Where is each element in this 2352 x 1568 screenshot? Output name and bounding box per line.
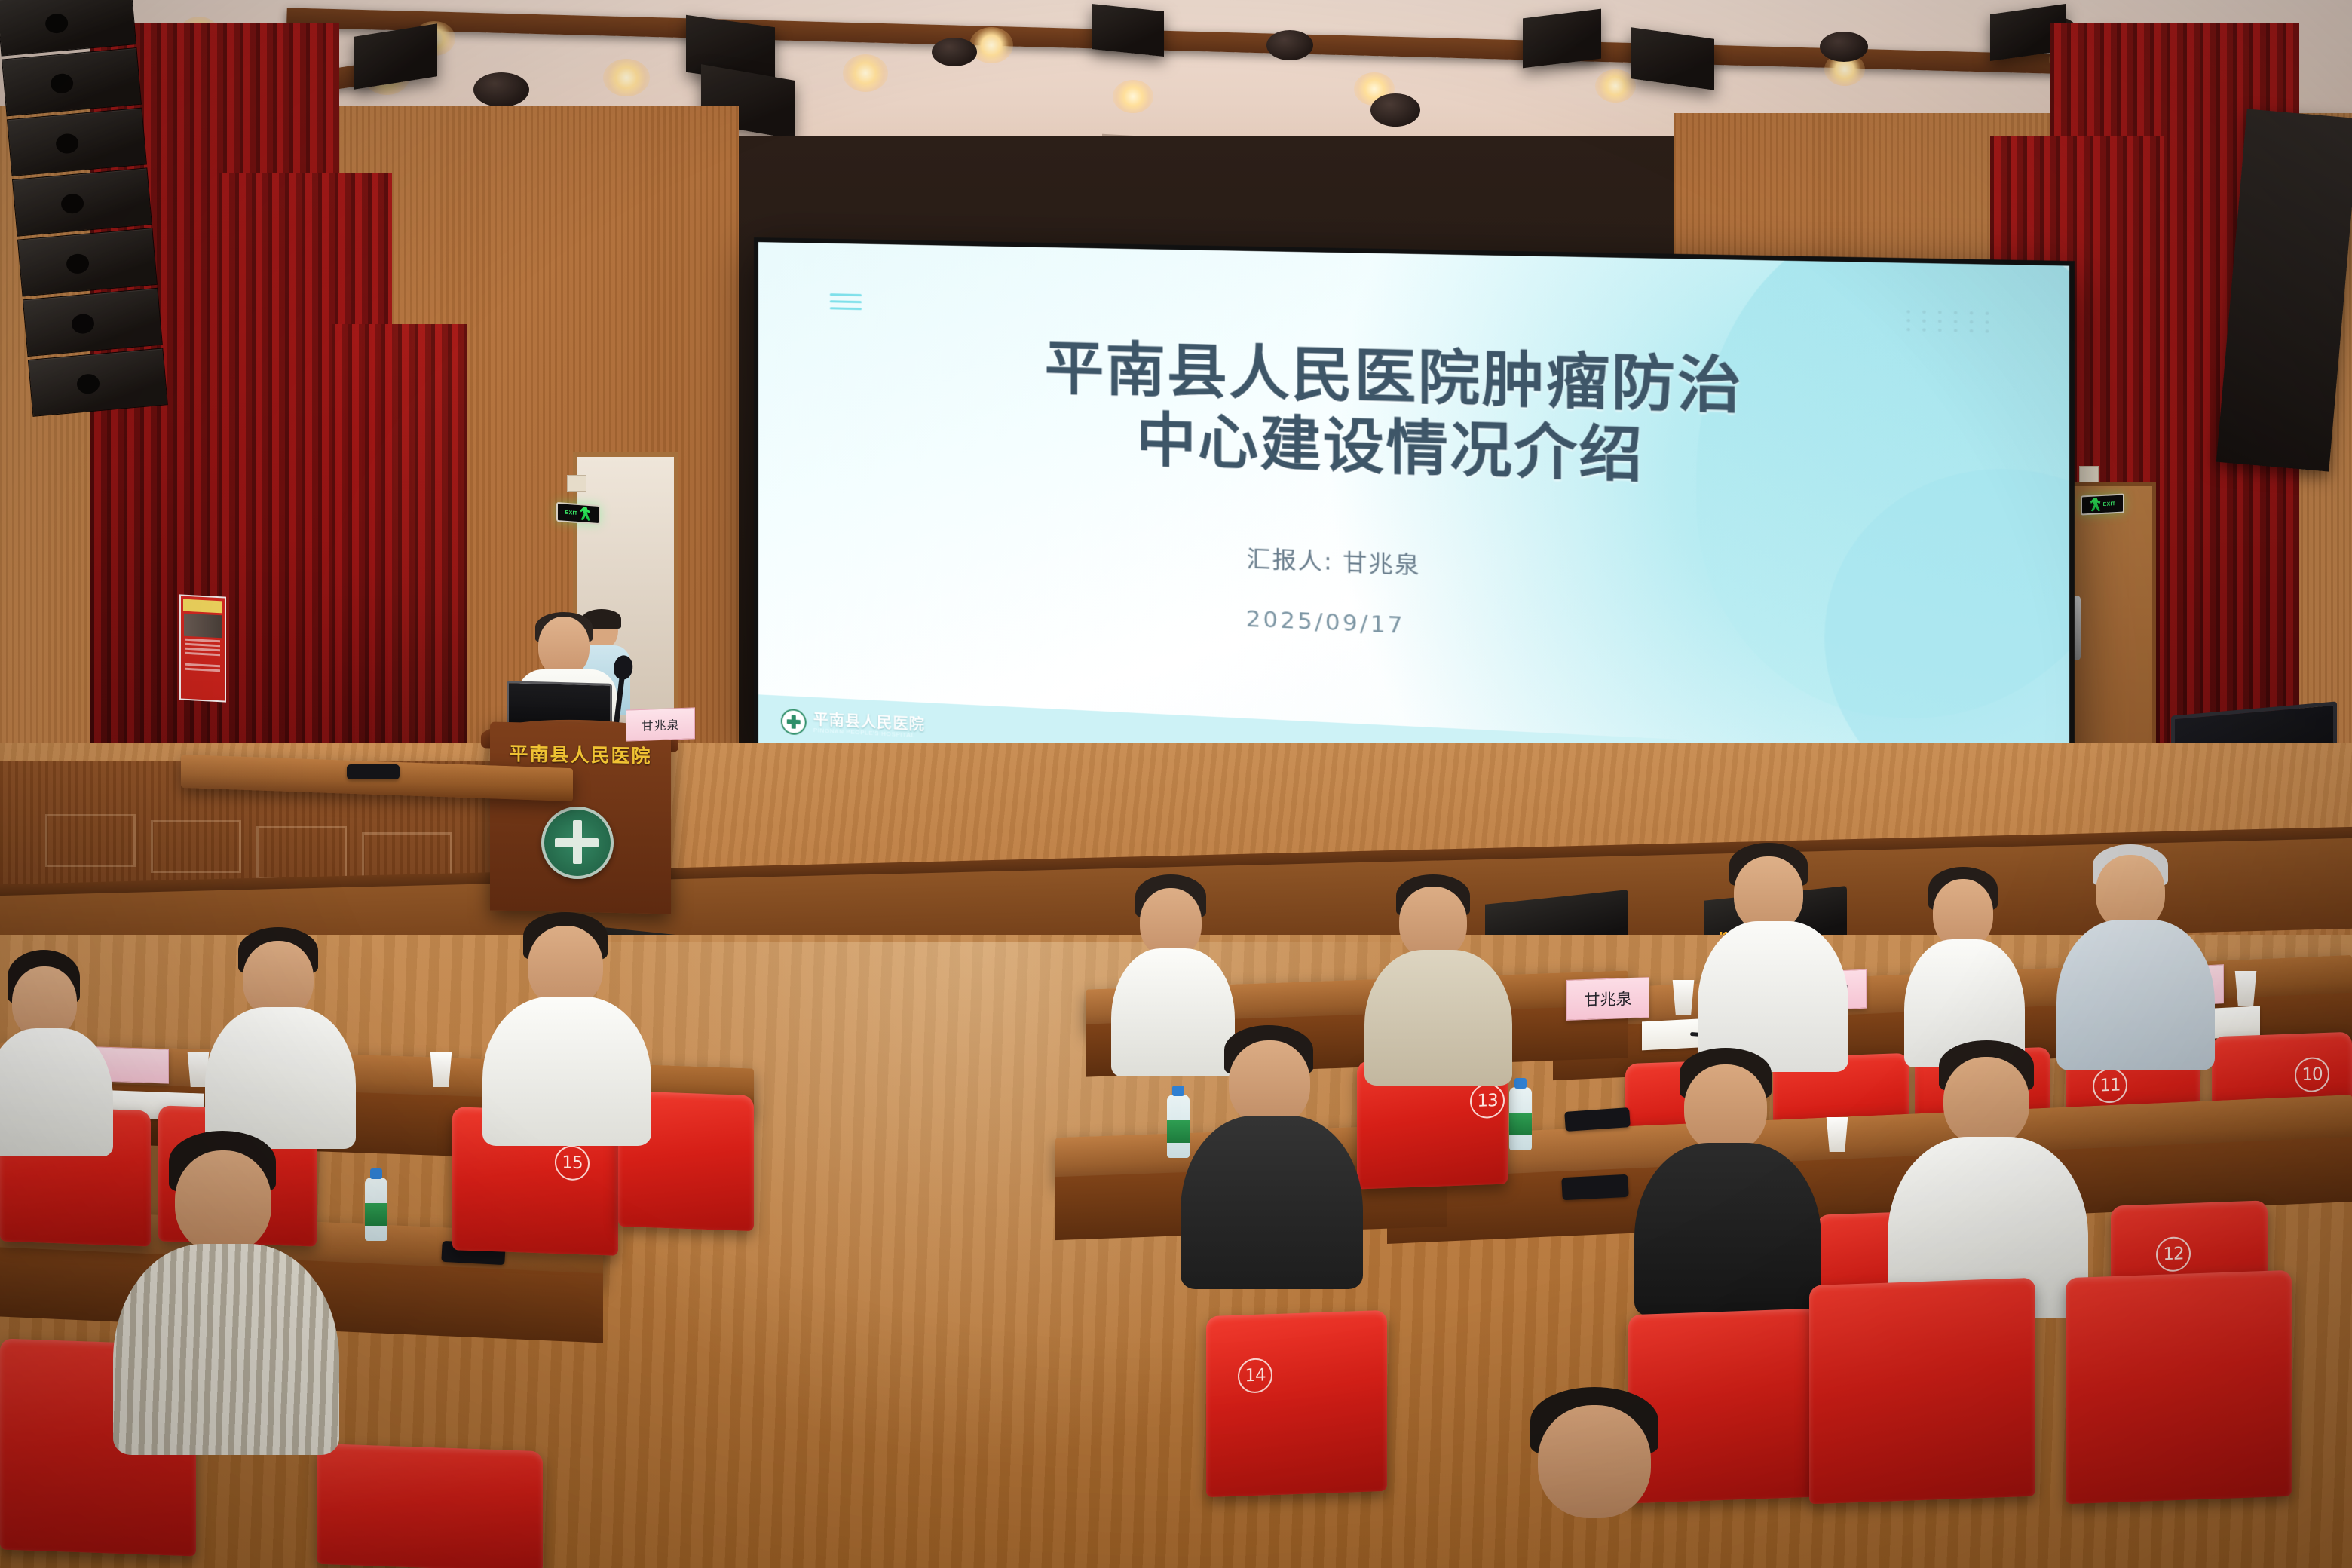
stage-side-object — [347, 764, 400, 779]
fire-safety-poster — [179, 594, 226, 702]
exit-sign-left: EXIT — [556, 502, 600, 525]
ceiling-acoustic-pod — [473, 72, 529, 107]
audience-person — [490, 912, 641, 1138]
audience-person — [1907, 867, 2020, 1063]
hospital-emblem-icon — [541, 807, 614, 879]
ceiling-speaker-panel — [1092, 4, 1164, 57]
ceiling-acoustic-pod — [1820, 32, 1868, 62]
audience-chair[interactable]: 14 — [1206, 1310, 1387, 1497]
audience-person — [1643, 1048, 1809, 1304]
seat-number: 15 — [555, 1145, 590, 1181]
wall-plate — [567, 475, 586, 492]
ceiling-downlight — [969, 27, 1013, 63]
water-bottle — [1167, 1095, 1190, 1158]
audience-chair[interactable] — [2066, 1270, 2292, 1504]
ceiling-speaker-panel — [1523, 9, 1601, 69]
seat-number: 11 — [2093, 1067, 2127, 1104]
ceiling-acoustic-pod — [1266, 30, 1313, 60]
running-person-icon — [2090, 498, 2102, 512]
exit-label: EXIT — [565, 510, 578, 516]
audience-person — [211, 927, 347, 1138]
ceiling-downlight — [1113, 80, 1153, 113]
ceiling-acoustic-pod — [1370, 93, 1420, 127]
hamburger-decor-icon — [830, 289, 862, 314]
projection-screen: 平南县人民医院肿瘤防治 中心建设情况介绍 汇报人: 甘兆泉 2025/09/17… — [754, 237, 2075, 819]
exit-label: EXIT — [2103, 501, 2116, 507]
audience-person — [1372, 874, 1500, 1078]
water-bottle — [1509, 1087, 1532, 1150]
audience-person — [0, 950, 113, 1138]
water-bottle — [365, 1178, 387, 1241]
audience-person — [128, 1131, 324, 1447]
seat-number: 12 — [2156, 1236, 2191, 1272]
seat-number: 10 — [2295, 1057, 2329, 1093]
audience-person — [2066, 844, 2201, 1070]
ceiling-downlight — [603, 59, 650, 96]
exit-sign-right: EXIT — [2081, 493, 2124, 515]
slide-title: 平南县人民医院肿瘤防治 中心建设情况介绍 — [758, 326, 2069, 506]
ceiling-acoustic-pod — [932, 38, 977, 66]
audience-person — [1478, 1387, 1704, 1568]
audience-person — [1191, 1025, 1349, 1282]
presentation-slide: 平南县人民医院肿瘤防治 中心建设情况介绍 汇报人: 甘兆泉 2025/09/17… — [758, 242, 2069, 814]
audience-person — [1704, 843, 1836, 1069]
conference-hall-photo: EXIT EXIT 平南县人民医院肿瘤防治 中心建设情况介绍 汇报人: — [0, 0, 2352, 1568]
stage-curtain-mid-left — [332, 324, 467, 776]
ceiling-downlight — [1595, 69, 1636, 103]
audience-person — [1900, 1040, 2073, 1304]
podium-name-card: 甘兆泉 — [626, 707, 695, 741]
table-name-card: 甘兆泉 — [1566, 977, 1649, 1021]
seat-number: 14 — [1238, 1358, 1272, 1394]
ceiling-downlight — [843, 54, 888, 92]
hospital-logo: 平南县人民医院 PINGNAN PEOPLE'S HOSPITAL — [758, 707, 925, 741]
dot-grid-decor-icon — [1906, 310, 1993, 333]
mobile-phone[interactable] — [1561, 1174, 1628, 1201]
audience-chair[interactable] — [1809, 1278, 2035, 1504]
audience-chair[interactable] — [317, 1444, 543, 1568]
medical-cross-icon — [781, 709, 807, 736]
running-person-icon — [579, 507, 591, 521]
seat-number: 13 — [1470, 1083, 1505, 1119]
wall-plate — [2079, 466, 2099, 482]
podium-sign-text: 平南县人民医院 — [490, 738, 671, 769]
